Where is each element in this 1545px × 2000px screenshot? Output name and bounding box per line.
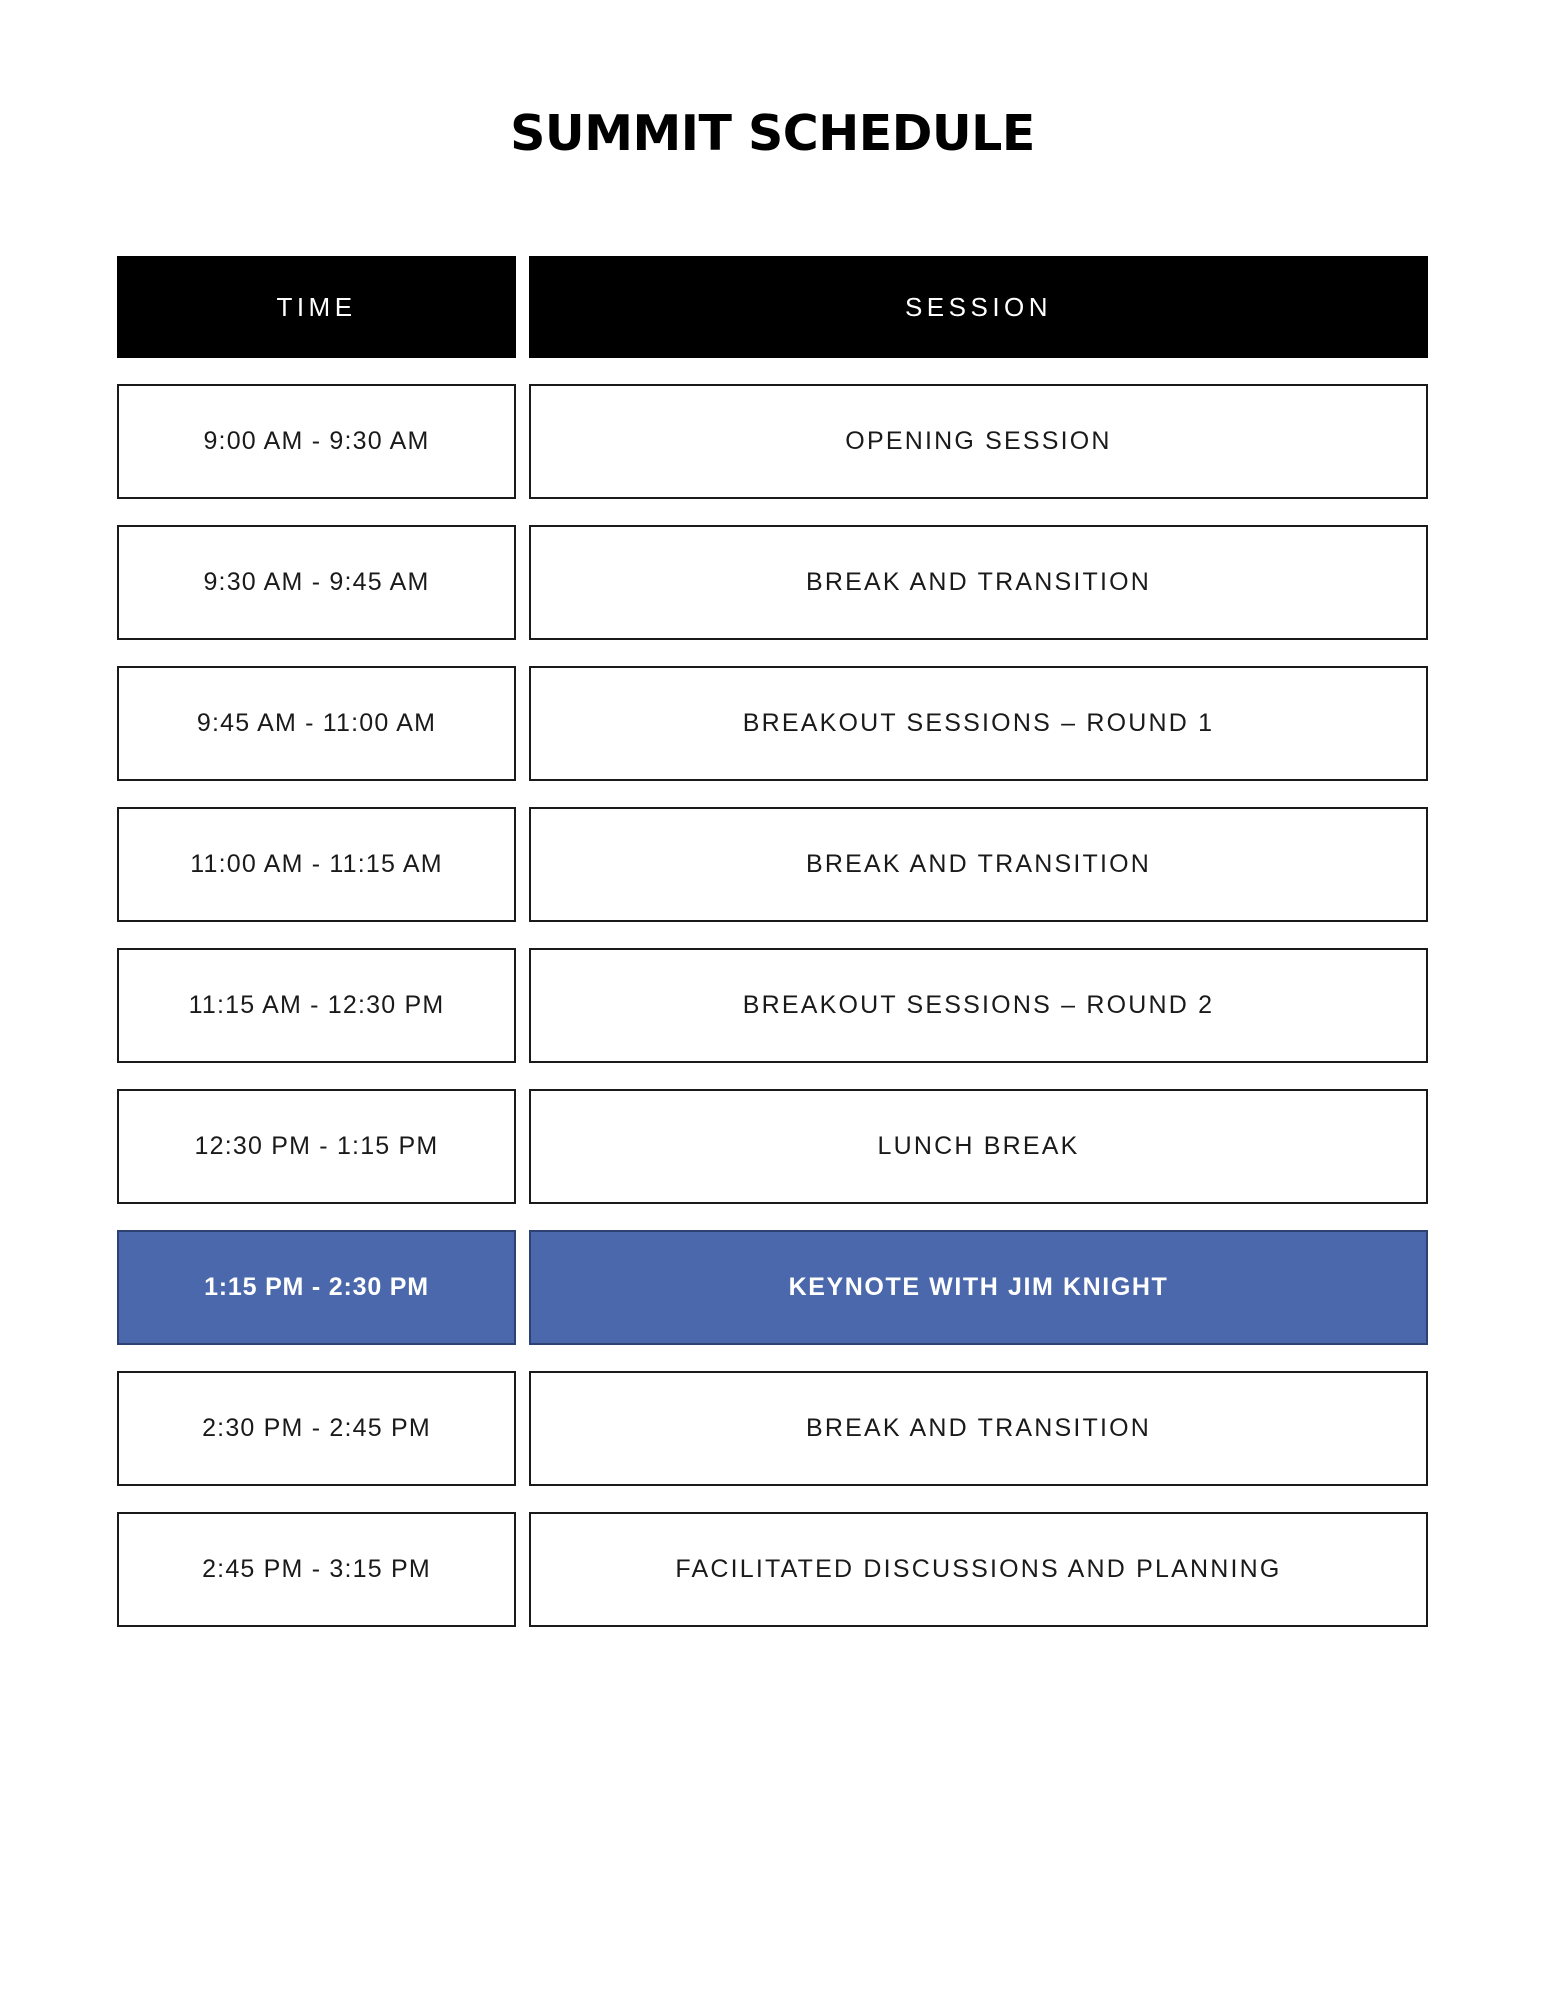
- cell-session: BREAK AND TRANSITION: [529, 807, 1428, 922]
- cell-session: OPENING SESSION: [529, 384, 1428, 499]
- cell-session: BREAK AND TRANSITION: [529, 525, 1428, 640]
- table-row: 9:45 AM - 11:00 AMBREAKOUT SESSIONS – RO…: [117, 666, 1428, 781]
- cell-time: 2:30 PM - 2:45 PM: [117, 1371, 516, 1486]
- cell-time: 9:45 AM - 11:00 AM: [117, 666, 516, 781]
- cell-time: 12:30 PM - 1:15 PM: [117, 1089, 516, 1204]
- cell-time: 1:15 PM - 2:30 PM: [117, 1230, 516, 1345]
- table-row: 2:45 PM - 3:15 PMFACILITATED DISCUSSIONS…: [117, 1512, 1428, 1627]
- cell-session: BREAKOUT SESSIONS – ROUND 2: [529, 948, 1428, 1063]
- cell-session: LUNCH BREAK: [529, 1089, 1428, 1204]
- table-row: 12:30 PM - 1:15 PMLUNCH BREAK: [117, 1089, 1428, 1204]
- cell-session: BREAK AND TRANSITION: [529, 1371, 1428, 1486]
- table-row: 11:15 AM - 12:30 PMBREAKOUT SESSIONS – R…: [117, 948, 1428, 1063]
- table-body: 9:00 AM - 9:30 AMOPENING SESSION9:30 AM …: [117, 384, 1428, 1627]
- table-row: 1:15 PM - 2:30 PMKEYNOTE WITH JIM KNIGHT: [117, 1230, 1428, 1345]
- table-header-row: TIME SESSION: [117, 256, 1428, 358]
- cell-time: 11:00 AM - 11:15 AM: [117, 807, 516, 922]
- cell-time: 2:45 PM - 3:15 PM: [117, 1512, 516, 1627]
- schedule-table: TIME SESSION 9:00 AM - 9:30 AMOPENING SE…: [117, 256, 1428, 1627]
- schedule-page: SUMMIT SCHEDULE TIME SESSION 9:00 AM - 9…: [0, 0, 1545, 2000]
- table-row: 11:00 AM - 11:15 AMBREAK AND TRANSITION: [117, 807, 1428, 922]
- cell-session: FACILITATED DISCUSSIONS AND PLANNING: [529, 1512, 1428, 1627]
- cell-time: 11:15 AM - 12:30 PM: [117, 948, 516, 1063]
- table-row: 9:30 AM - 9:45 AMBREAK AND TRANSITION: [117, 525, 1428, 640]
- cell-session: BREAKOUT SESSIONS – ROUND 1: [529, 666, 1428, 781]
- page-title: SUMMIT SCHEDULE: [0, 104, 1545, 164]
- table-row: 9:00 AM - 9:30 AMOPENING SESSION: [117, 384, 1428, 499]
- column-header-time: TIME: [117, 256, 516, 358]
- table-row: 2:30 PM - 2:45 PMBREAK AND TRANSITION: [117, 1371, 1428, 1486]
- cell-time: 9:00 AM - 9:30 AM: [117, 384, 516, 499]
- cell-time: 9:30 AM - 9:45 AM: [117, 525, 516, 640]
- column-header-session: SESSION: [529, 256, 1428, 358]
- cell-session: KEYNOTE WITH JIM KNIGHT: [529, 1230, 1428, 1345]
